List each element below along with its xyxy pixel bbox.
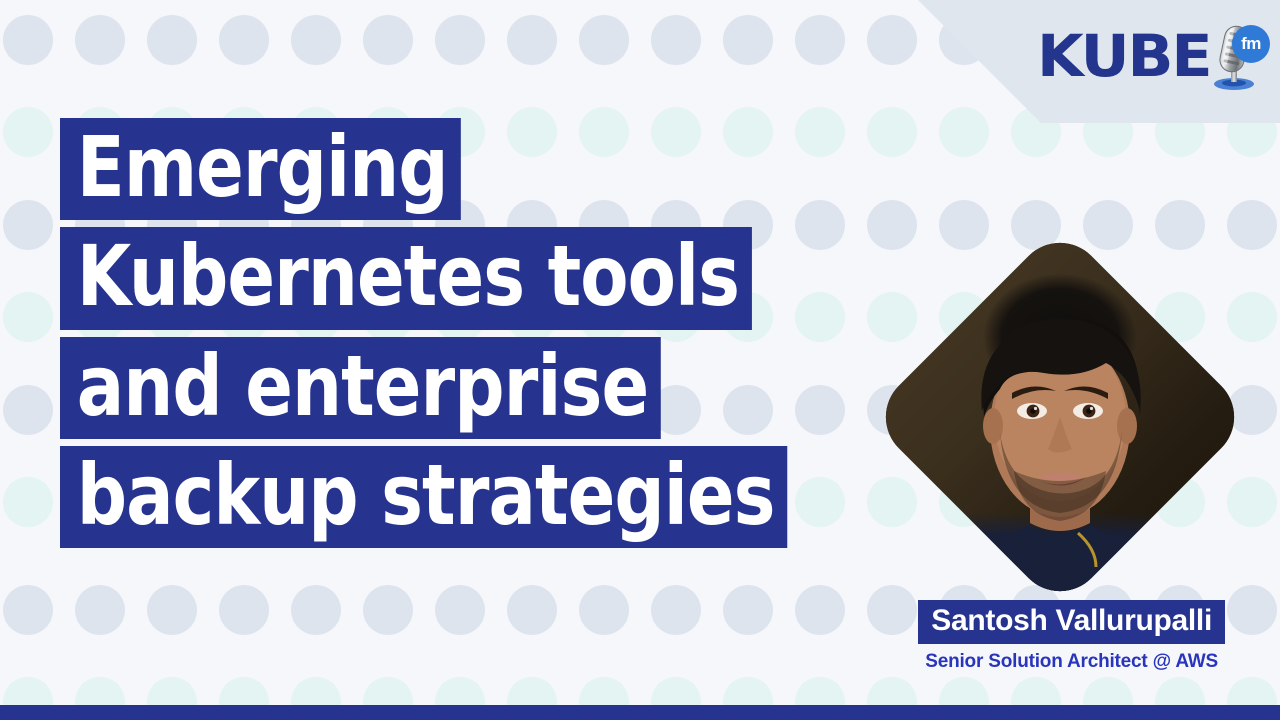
background-dot xyxy=(867,15,917,65)
background-dot xyxy=(435,585,485,635)
background-dot xyxy=(867,107,917,157)
background-dot xyxy=(3,107,53,157)
background-dot xyxy=(75,585,125,635)
background-dot xyxy=(507,15,557,65)
avatar xyxy=(868,225,1253,610)
title-line-3: and enterprise xyxy=(60,337,661,439)
background-dot xyxy=(3,15,53,65)
background-dot xyxy=(291,15,341,65)
background-dot xyxy=(507,585,557,635)
background-dot xyxy=(651,15,701,65)
speaker-photo-frame xyxy=(865,222,1255,612)
title-line-2: Kubernetes tools xyxy=(60,227,752,329)
background-dot xyxy=(363,15,413,65)
background-dot xyxy=(723,585,773,635)
bottom-accent-bar xyxy=(0,705,1280,720)
background-dot xyxy=(3,292,53,342)
background-dot xyxy=(75,15,125,65)
episode-title: Emerging Kubernetes tools and enterprise… xyxy=(60,118,842,548)
background-dot xyxy=(291,585,341,635)
background-dot xyxy=(939,107,989,157)
background-dot xyxy=(3,477,53,527)
background-dot xyxy=(579,15,629,65)
background-dot xyxy=(3,585,53,635)
kube-fm-logo[interactable]: KUBE xyxy=(1037,20,1266,92)
background-dot xyxy=(795,585,845,635)
title-line-4: backup strategies xyxy=(60,446,788,548)
speaker-portrait-image xyxy=(868,225,1253,610)
background-dot xyxy=(219,15,269,65)
fm-badge: fm xyxy=(1232,25,1270,63)
title-line-1: Emerging xyxy=(60,118,461,220)
background-dot xyxy=(795,15,845,65)
background-dot xyxy=(579,585,629,635)
background-dot xyxy=(147,585,197,635)
speaker-role: Senior Solution Architect @ AWS xyxy=(918,651,1225,673)
speaker-name: Santosh Vallurupalli xyxy=(918,600,1225,644)
background-dot xyxy=(219,585,269,635)
background-dot xyxy=(435,15,485,65)
logo-wordmark: KUBE xyxy=(1037,27,1211,85)
background-dot xyxy=(363,585,413,635)
background-dot xyxy=(3,385,53,435)
background-dot xyxy=(3,200,53,250)
background-dot xyxy=(651,585,701,635)
background-dot xyxy=(723,15,773,65)
background-dot xyxy=(147,15,197,65)
